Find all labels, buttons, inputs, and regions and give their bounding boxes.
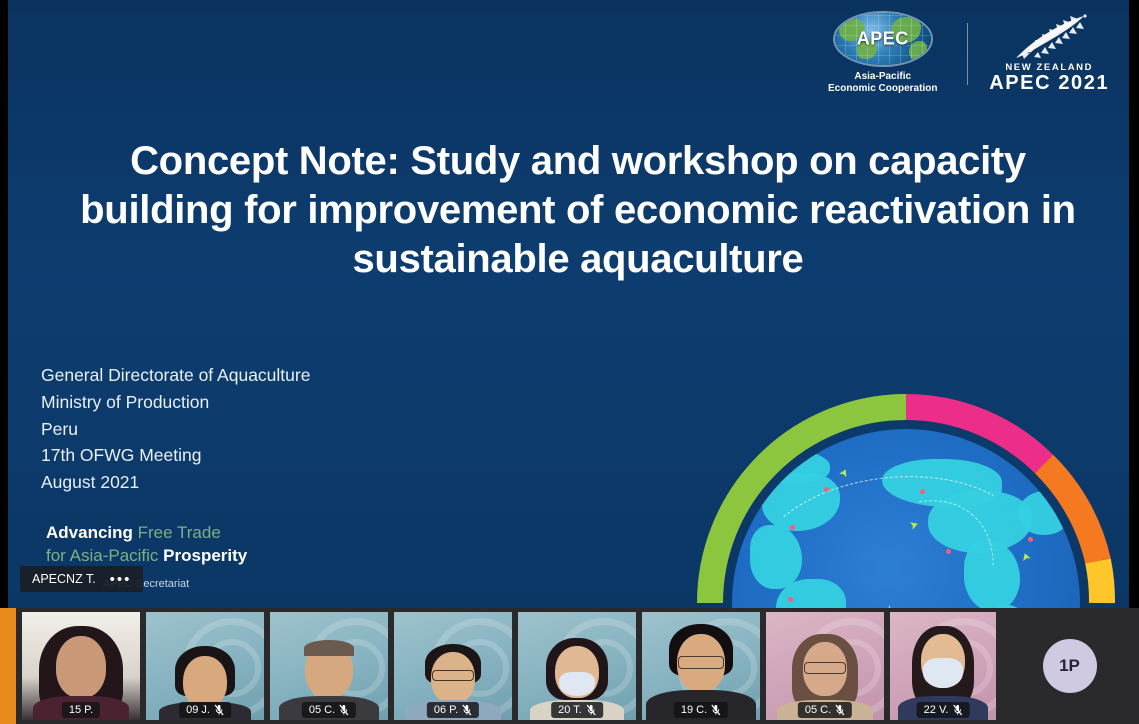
participant-label: 05 C.	[309, 704, 335, 716]
more-options-icon[interactable]: •••	[110, 572, 132, 587]
participant-tile[interactable]: 19 C.	[642, 612, 760, 720]
slide-logo-row: APEC Asia-Pacific Economic Cooperation	[814, 14, 1114, 94]
participant-name-pill: 09 J.	[179, 702, 231, 718]
participant-tile[interactable]: 20 T.	[518, 612, 636, 720]
slide-affiliation-block: General Directorate of Aquaculture Minis…	[41, 362, 310, 496]
participant-name-pill: 06 P.	[427, 702, 479, 718]
mic-muted-icon	[835, 704, 845, 716]
participant-tile[interactable]: 06 P.	[394, 612, 512, 720]
tagline-advancing: Advancing	[46, 523, 133, 542]
nz-apec-2021-logo: NEW ZEALAND APEC 2021	[984, 14, 1114, 94]
mic-muted-icon	[711, 704, 721, 716]
participant-label: 22 V.	[924, 704, 949, 716]
apec-subtitle-line1: Asia-Pacific	[828, 71, 937, 84]
logo-divider	[967, 23, 968, 85]
apec-wordmark: APEC	[835, 28, 931, 49]
apec-logo-subtitle: Asia-Pacific Economic Cooperation	[828, 71, 937, 96]
presenter-name-label: APECNZ T.	[32, 572, 96, 586]
tagline-prosperity: Prosperity	[163, 546, 247, 565]
affiliation-line: Peru	[41, 416, 310, 443]
affiliation-line: August 2021	[41, 469, 310, 496]
participant-tile[interactable]: 09 J.	[146, 612, 264, 720]
filmstrip-left-accent-bar	[0, 608, 16, 724]
participant-name-pill: 22 V.	[917, 702, 970, 718]
participant-name-pill: 05 C.	[302, 702, 356, 718]
participant-avatar-tile[interactable]: 1P	[1000, 612, 1139, 720]
participant-label: 19 C.	[681, 704, 707, 716]
tagline-free-trade: Free Trade	[133, 523, 221, 542]
participant-tile[interactable]: 22 V.	[890, 612, 996, 720]
participant-name-pill: 15 P.	[62, 702, 100, 718]
tagline-for-asia-pacific: for Asia-Pacific	[46, 546, 163, 565]
participant-label: 05 C.	[805, 704, 831, 716]
participant-name-pill: 19 C.	[674, 702, 728, 718]
affiliation-line: 17th OFWG Meeting	[41, 442, 310, 469]
participant-tile[interactable]: 05 C.	[270, 612, 388, 720]
apec-tagline: Advancing Free Trade for Asia-Pacific Pr…	[46, 522, 247, 567]
mic-muted-icon	[462, 704, 472, 716]
participant-tile[interactable]: 05 C.	[766, 612, 884, 720]
affiliation-line: Ministry of Production	[41, 389, 310, 416]
screen-root: APEC Asia-Pacific Economic Cooperation	[0, 0, 1139, 724]
participant-name-pill: 20 T.	[551, 702, 603, 718]
mic-muted-icon	[586, 704, 596, 716]
mic-muted-icon	[339, 704, 349, 716]
participant-tile[interactable]: 15 P.	[22, 612, 140, 720]
apec-subtitle-line2: Economic Cooperation	[828, 83, 937, 96]
nz-logo-bottom-text: APEC 2021	[989, 73, 1109, 94]
affiliation-line: General Directorate of Aquaculture	[41, 362, 310, 389]
participant-filmstrip: 15 P. 09 J. 05 C.	[0, 608, 1139, 724]
apec-logo: APEC Asia-Pacific Economic Cooperation	[814, 13, 951, 96]
silver-fern-icon	[1010, 14, 1088, 60]
mic-muted-icon	[952, 704, 962, 716]
participant-label: 09 J.	[186, 704, 210, 716]
shared-presentation-slide: APEC Asia-Pacific Economic Cooperation	[8, 0, 1129, 608]
globe-graphic	[696, 393, 1116, 608]
apec-globe-icon: APEC	[835, 13, 931, 65]
participant-name-pill: 05 C.	[798, 702, 852, 718]
avatar-initials: 1P	[1043, 639, 1097, 693]
participant-label: 15 P.	[69, 704, 93, 716]
slide-title: Concept Note: Study and workshop on capa…	[78, 137, 1078, 285]
presenter-overlay-badge[interactable]: APECNZ T. •••	[20, 566, 143, 592]
participant-label: 20 T.	[558, 704, 582, 716]
participant-label: 06 P.	[434, 704, 458, 716]
mic-muted-icon	[214, 704, 224, 716]
